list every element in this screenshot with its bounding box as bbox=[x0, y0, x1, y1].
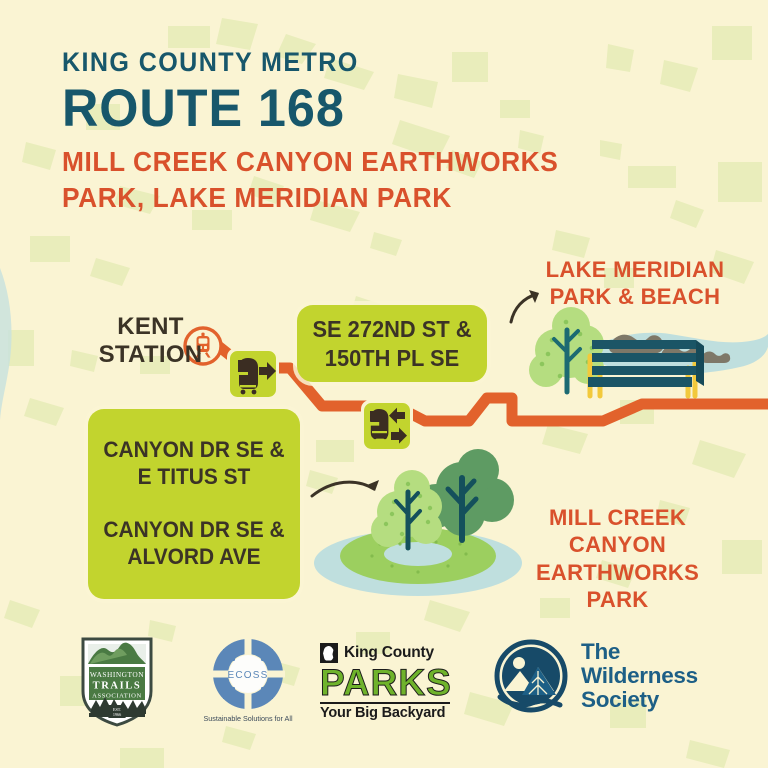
logo-king-county-parks[interactable]: King County PARKS Your Big Backyard bbox=[320, 643, 450, 721]
mill-creek-line-2: EARTHWORKS PARK bbox=[505, 559, 730, 614]
lake-bench-tree-illustration bbox=[529, 307, 768, 396]
kent-station-line-1: KENT bbox=[117, 313, 184, 340]
king-county-crown-icon bbox=[320, 643, 338, 663]
stop-canyon-titus: CANYON DR SE & E TITUS ST bbox=[88, 437, 300, 491]
wta-line-3: ASSOCIATION bbox=[92, 693, 142, 700]
stop-label-se-272nd[interactable]: SE 272ND ST & 150TH PL SE bbox=[297, 305, 487, 382]
logo-ecoss[interactable]: ECOSS Sustainable Solutions for All bbox=[196, 637, 300, 723]
lake-meridian-line-1: LAKE MERIDIAN bbox=[540, 256, 730, 283]
stop-canyon-alvord-line-1: CANYON DR SE & bbox=[93, 517, 294, 544]
wta-line-2: TRAILS bbox=[93, 681, 142, 692]
king-county-wordmark: King County bbox=[344, 644, 434, 662]
stop-272nd-line-1: SE 272ND ST & bbox=[302, 315, 483, 343]
stop-canyon-titus-line-1: CANYON DR SE & bbox=[93, 437, 294, 464]
kent-station-label: KENT STATION bbox=[98, 313, 203, 370]
stop-canyon-alvord: CANYON DR SE & ALVORD AVE bbox=[88, 517, 300, 571]
wta-line-1: WASHINGTON bbox=[90, 670, 144, 679]
bus-arrow-bidirectional-icon bbox=[361, 400, 413, 452]
ecoss-tagline: Sustainable Solutions for All bbox=[196, 714, 300, 723]
tws-line-1: The bbox=[581, 640, 698, 664]
wilderness-mountain-icon bbox=[494, 639, 568, 713]
logo-washington-trails-association[interactable]: WASHINGTON TRAILS ASSOCIATION EST. 1966 bbox=[78, 635, 156, 732]
king-county-row: King County bbox=[320, 643, 450, 663]
destination-label-mill-creek: MILL CREEK CANYON EARTHWORKS PARK bbox=[505, 504, 730, 613]
kent-station-line-2: STATION bbox=[99, 341, 203, 368]
agency-kicker: KING COUNTY METRO bbox=[62, 48, 553, 78]
parks-wordmark: PARKS bbox=[320, 665, 450, 700]
subtitle-line-1: MILL CREEK CANYON EARTHWORKS bbox=[62, 144, 558, 180]
subtitle-line-2: PARK, LAKE MERIDIAN PARK bbox=[62, 180, 558, 216]
stop-canyon-alvord-line-2: ALVORD AVE bbox=[93, 544, 294, 571]
parks-tagline: Your Big Backyard bbox=[320, 705, 450, 721]
destination-label-lake-meridian: LAKE MERIDIAN PARK & BEACH bbox=[540, 256, 730, 311]
tws-line-2: Wilderness bbox=[581, 664, 698, 688]
wilderness-society-wordmark: The Wilderness Society bbox=[581, 640, 698, 712]
svg-text:1966: 1966 bbox=[113, 712, 121, 717]
trees-earthworks-illustration bbox=[314, 449, 522, 596]
tws-line-3: Society bbox=[581, 688, 698, 712]
route-subtitle: MILL CREEK CANYON EARTHWORKS PARK, LAKE … bbox=[62, 144, 558, 216]
partner-logos: WASHINGTON TRAILS ASSOCIATION EST. 1966 bbox=[0, 635, 768, 740]
arrow-to-lake-meridian bbox=[511, 290, 539, 322]
logo-wilderness-society[interactable]: The Wilderness Society bbox=[494, 639, 698, 713]
stop-canyon-titus-line-2: E TITUS ST bbox=[93, 464, 294, 491]
stop-label-canyon-dr[interactable]: CANYON DR SE & E TITUS ST CANYON DR SE &… bbox=[88, 409, 300, 599]
arrow-to-mill-creek bbox=[312, 480, 379, 496]
stop-272nd-line-2: 150TH PL SE bbox=[302, 344, 483, 372]
ecoss-wordmark: ECOSS bbox=[227, 670, 268, 681]
lake-meridian-line-2: PARK & BEACH bbox=[540, 283, 730, 310]
header: KING COUNTY METRO ROUTE 168 MILL CREEK C… bbox=[62, 48, 590, 216]
bus-arrow-right-icon bbox=[227, 348, 279, 400]
mill-creek-line-1: MILL CREEK CANYON bbox=[505, 504, 730, 559]
route-title: ROUTE 168 bbox=[62, 80, 564, 137]
